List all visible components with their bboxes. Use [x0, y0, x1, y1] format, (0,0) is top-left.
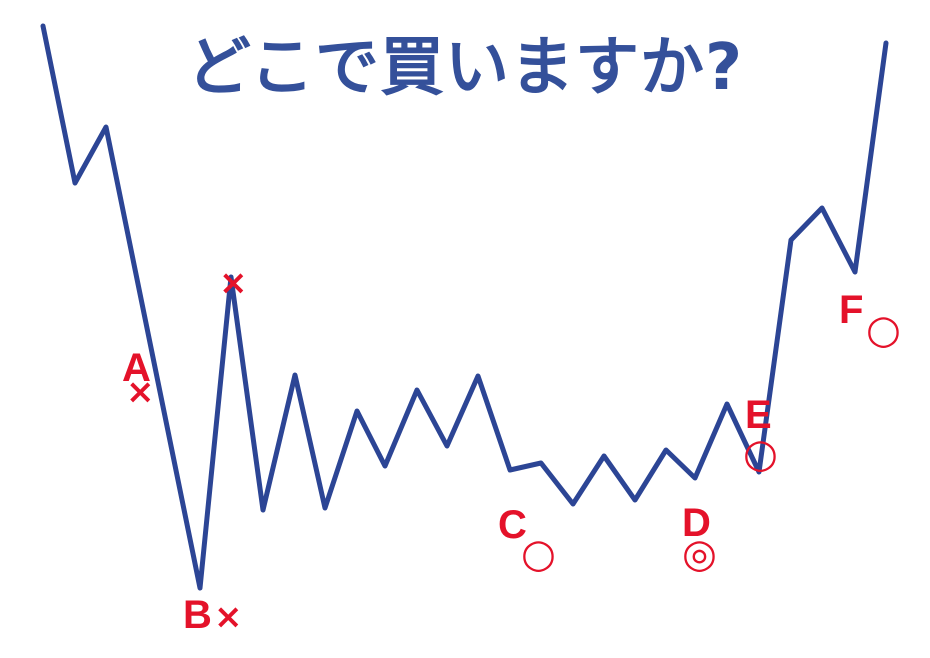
circle-mark-f: ○ [866, 310, 901, 350]
double-circle-mark-d: ◎ [682, 534, 717, 574]
marker-label-e: E [745, 395, 772, 435]
page-title: どこで買いますか? [0, 36, 930, 100]
cross-mark-b: × [214, 600, 243, 634]
cross-mark-peak: × [219, 266, 248, 300]
marker-label-f: F [839, 290, 863, 330]
marker-label-b: B [183, 595, 212, 635]
circle-mark-c: ○ [521, 534, 556, 574]
circle-mark-e: ○ [743, 434, 778, 474]
chart-canvas: どこで買いますか? ×A×B×C○D◎E○F○ [0, 0, 930, 658]
cross-mark-a: × [126, 375, 155, 409]
price-line-path [43, 26, 886, 588]
